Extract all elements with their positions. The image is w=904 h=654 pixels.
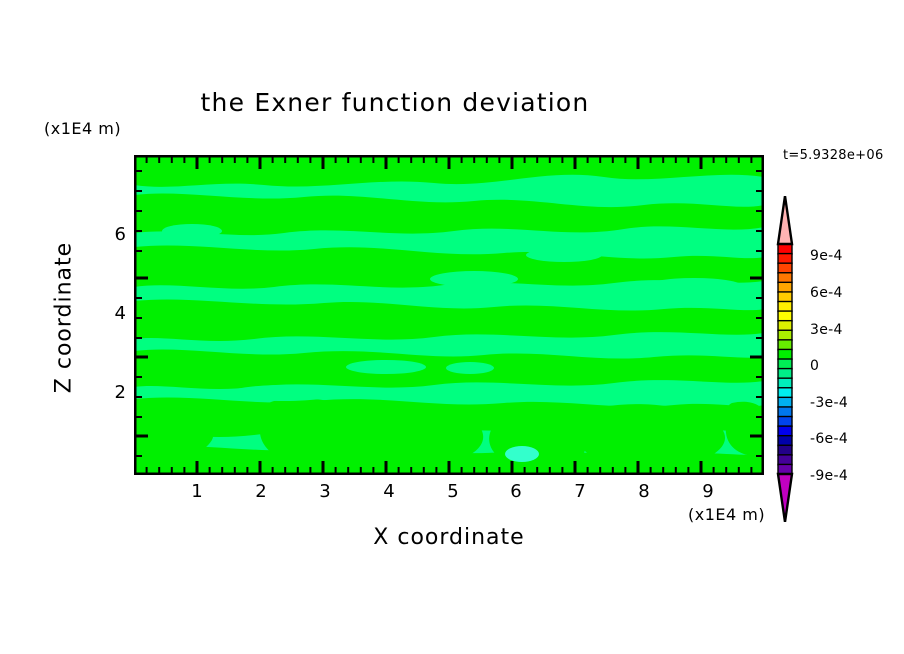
colorbar-swatch: [778, 330, 792, 340]
colorbar-tick-label: 3e-4: [810, 322, 843, 338]
colorbar-over-arrow: [778, 196, 792, 244]
timestamp-annotation: t=5.9328e+06: [783, 148, 884, 163]
colorbar-tick-label: 6e-4: [810, 285, 843, 301]
contour-pocket: [162, 224, 222, 238]
colorbar-tick-label: 9e-4: [810, 248, 843, 264]
x-tick-label: 6: [501, 481, 531, 502]
colorbar-swatch: [778, 359, 792, 369]
colorbar-swatch: [778, 378, 792, 388]
y-tick-label: 6: [96, 224, 126, 245]
colorbar-swatch: [778, 349, 792, 359]
contour-pocket: [229, 385, 339, 401]
contour-pocket: [526, 248, 602, 262]
colorbar-swatch: [778, 369, 792, 379]
colorbar-swatch: [778, 292, 792, 302]
contour-pocket: [430, 271, 518, 287]
contour-pocket: [644, 278, 744, 296]
colorbar-swatch: [778, 273, 792, 283]
colorbar-swatch: [778, 302, 792, 312]
colorbar-swatch: [778, 426, 792, 436]
colorbar-swatches: [778, 244, 792, 474]
contour-pocket: [446, 362, 494, 374]
colorbar-swatch: [778, 282, 792, 292]
x-tick-label: 7: [565, 481, 595, 502]
colorbar-swatch: [778, 263, 792, 273]
x-tick-label: 3: [310, 481, 340, 502]
colorbar-swatch: [778, 445, 792, 455]
colorbar-swatch: [778, 340, 792, 350]
colorbar-swatch: [778, 417, 792, 427]
x-tick-label: 8: [629, 481, 659, 502]
colorbar-swatch: [778, 244, 792, 254]
colorbar-tick-label: -3e-4: [810, 395, 848, 411]
colorbar-tick-label: -6e-4: [810, 431, 848, 447]
y-axis-title: Z coordinate: [52, 228, 77, 408]
contour-pocket-cyan: [505, 446, 539, 462]
colorbar-swatch: [778, 397, 792, 407]
y-tick-label: 4: [96, 303, 126, 324]
colorbar-swatch: [778, 311, 792, 321]
x-tick-label: 9: [693, 481, 723, 502]
y-tick-label: 2: [96, 382, 126, 403]
colorbar-swatch: [778, 321, 792, 331]
contour-pocket: [346, 360, 426, 374]
contour-pocket: [588, 335, 680, 351]
y-axis-unit-label: (x1E4 m): [44, 119, 121, 138]
contour-bands: [134, 157, 764, 475]
contour-plot-canvas: [134, 155, 764, 475]
x-axis-title: X coordinate: [134, 525, 764, 550]
x-tick-label: 4: [374, 481, 404, 502]
colorbar-tick-label: -9e-4: [810, 468, 848, 484]
colorbar-swatch: [778, 436, 792, 446]
x-tick-label: 1: [182, 481, 212, 502]
page-title: the Exner function deviation: [0, 88, 790, 117]
x-axis-unit-label: (x1E4 m): [688, 505, 765, 524]
colorbar-under-arrow: [778, 474, 792, 522]
x-tick-label: 5: [438, 481, 468, 502]
colorbar-swatch: [778, 388, 792, 398]
colorbar-swatch: [778, 455, 792, 465]
x-tick-label: 2: [246, 481, 276, 502]
colorbar-tick-label: 0: [810, 358, 819, 374]
colorbar-swatch: [778, 254, 792, 264]
colorbar-swatch: [778, 407, 792, 417]
